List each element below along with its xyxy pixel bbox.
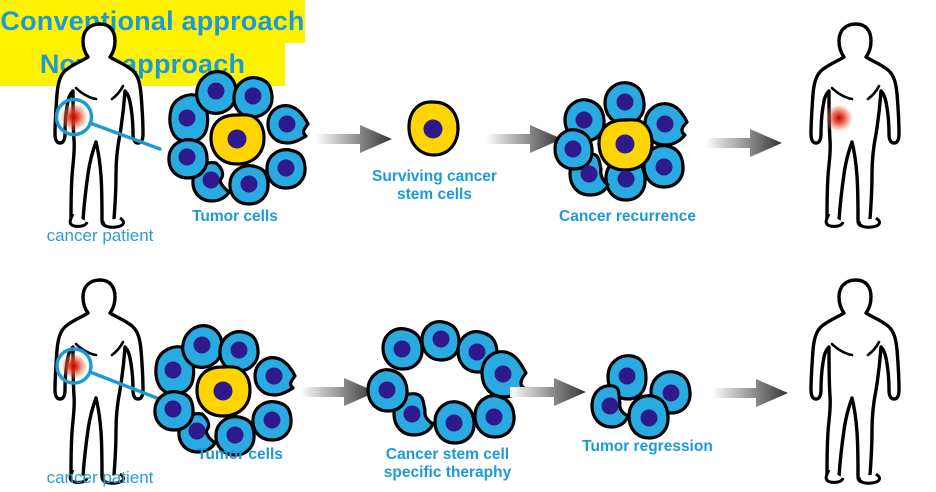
patient-label-conventional: cancer patient bbox=[20, 226, 180, 246]
stage-label-csc-specific-therapy: Cancer stem cell specific theraphy bbox=[360, 446, 535, 482]
human-silhouette-icon bbox=[811, 24, 899, 227]
stage-label-cancer-recurrence: Cancer recurrence bbox=[540, 208, 715, 226]
arrow-novel-2 bbox=[510, 375, 586, 409]
surviving-stem-cell-conventional bbox=[404, 98, 464, 160]
red-tumor-spot-icon bbox=[59, 102, 89, 132]
patient-figure-conventional-end bbox=[796, 16, 916, 231]
stem-cell-nucleus bbox=[616, 135, 635, 154]
arrow-novel-3 bbox=[712, 376, 788, 410]
right-arrow-icon bbox=[316, 125, 392, 153]
patient-figure-novel-end bbox=[796, 272, 916, 487]
patient-figure-conventional-start bbox=[40, 16, 160, 231]
patient-label-novel: cancer patient bbox=[20, 468, 180, 488]
human-silhouette-icon bbox=[811, 280, 899, 483]
stem-cell-nucleus bbox=[424, 120, 443, 139]
tumor-cell-cluster-conventional bbox=[158, 58, 323, 213]
right-arrow-icon bbox=[510, 378, 586, 406]
right-arrow-icon bbox=[712, 379, 788, 407]
stem-cell-nucleus bbox=[228, 130, 247, 149]
arrow-conventional-3 bbox=[706, 126, 782, 160]
tumor-regression-cluster bbox=[588, 352, 703, 442]
right-arrow-icon bbox=[706, 129, 782, 157]
stage-label-tumor-regression: Tumor regression bbox=[560, 438, 735, 456]
stem-cell-nucleus bbox=[214, 382, 233, 401]
cancer-recurrence-cluster bbox=[546, 72, 706, 212]
arrow-conventional-1 bbox=[316, 122, 392, 156]
stage-label-tumor-cells-conventional: Tumor cells bbox=[165, 208, 305, 226]
tumor-cell-cluster-novel bbox=[142, 318, 312, 458]
stage-label-surviving-stem-cells: Surviving cancer stem cells bbox=[352, 168, 517, 204]
diagram-canvas: Conventional approach cancer patient bbox=[0, 0, 936, 492]
red-tumor-spot-icon bbox=[824, 103, 854, 133]
cell-ring-stem-cell-removed bbox=[358, 320, 533, 445]
stage-label-tumor-cells-novel: Tumor cells bbox=[170, 446, 310, 464]
red-tumor-spot-icon bbox=[60, 352, 88, 380]
